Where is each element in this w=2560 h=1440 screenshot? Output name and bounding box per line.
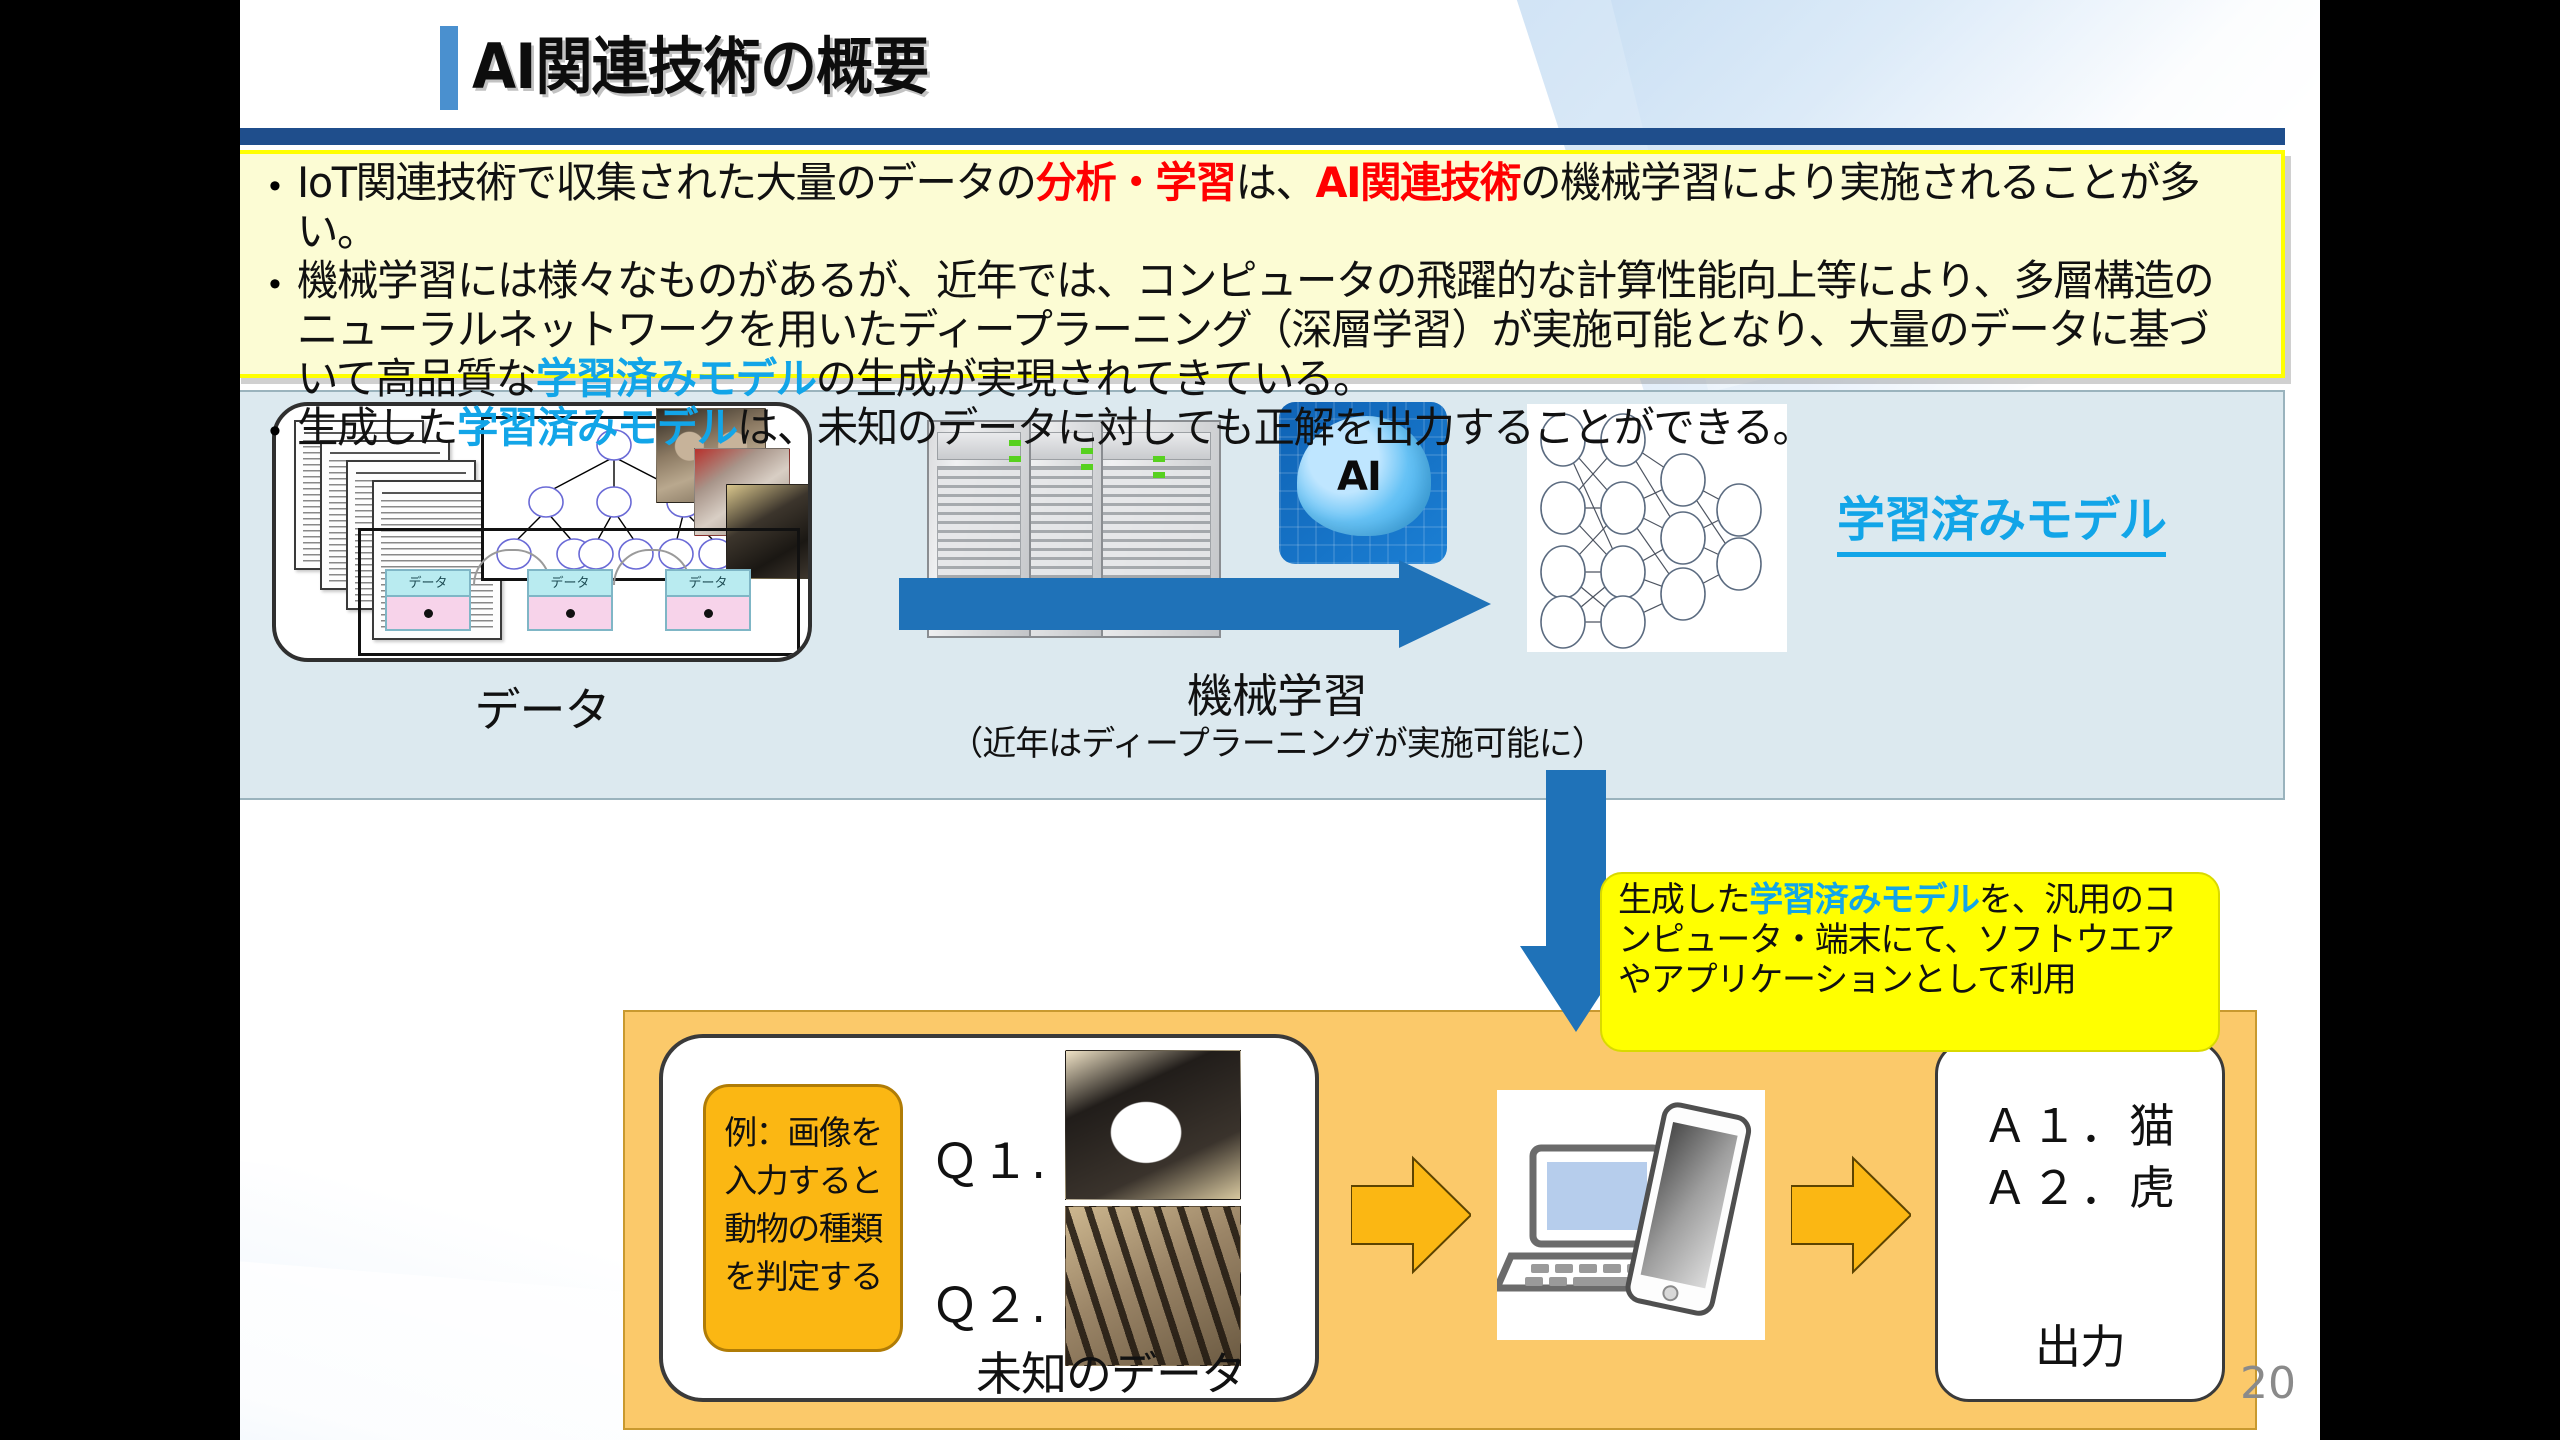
text-run-red: AI関連技術 xyxy=(1315,158,1520,207)
slide-header: AI関連技術の概要 xyxy=(240,14,2320,124)
text-run-plain: は、未知のデータに対しても正解を出力することができる。 xyxy=(737,403,1813,452)
output-answer-box: Ａ１．猫 Ａ２．虎 出力 xyxy=(1935,1040,2225,1402)
bullet-text-1: IoT関連技術で収集された大量のデータの分析・学習は、AI関連技術の機械学習によ… xyxy=(297,158,2239,256)
data-node: データ xyxy=(385,569,471,631)
bullet-marker: • xyxy=(253,158,297,212)
text-run-red: 分析・学習 xyxy=(1036,158,1236,207)
text-run-cyan: 学習済みモデル xyxy=(457,403,737,452)
text-run-plain: IoT関連技術で収集された大量のデータの xyxy=(297,158,1036,207)
bullet-text-3: 生成した学習済みモデルは、未知のデータに対しても正解を出力することができる。 xyxy=(297,403,1813,452)
page-number: 20 xyxy=(2240,1358,2296,1409)
question-2-label: Ｑ２. xyxy=(931,1266,1048,1336)
letterbox-right xyxy=(2320,0,2560,1440)
data-node-label: データ xyxy=(529,571,611,597)
bullet-item: • IoT関連技術で収集された大量のデータの分析・学習は、AI関連技術の機械学習… xyxy=(253,158,2269,256)
text-run-cyan: 学習済みモデル xyxy=(1749,880,1979,920)
tablet-icon xyxy=(1625,1102,1751,1316)
text-run-cyan: 学習済みモデル xyxy=(536,354,816,403)
bullet-marker: • xyxy=(253,256,297,310)
page-title: AI関連技術の概要 xyxy=(472,16,928,106)
linked-list-diagram: データ データ データ xyxy=(358,528,800,656)
data-caption: データ xyxy=(272,674,812,740)
ai-label: AI xyxy=(1337,454,1381,500)
usage-callout: 生成した学習済みモデルを、汎用のコンピュータ・端末にて、ソフトウエアやアプリケー… xyxy=(1600,872,2220,1052)
inference-panel: 例：画像を 入力すると 動物の種類 を判定する Ｑ１. Ｑ２. 未知のデータ xyxy=(623,1010,2257,1430)
bullet-marker: • xyxy=(253,403,297,457)
title-accent-bar xyxy=(440,26,458,110)
trained-model-label: 学習済みモデル xyxy=(1837,480,2166,557)
data-node-label: データ xyxy=(667,571,749,597)
unknown-data-caption: 未知のデータ xyxy=(901,1338,1321,1404)
example-note: 例：画像を 入力すると 動物の種類 を判定する xyxy=(703,1084,903,1352)
cat-photo-question xyxy=(1065,1050,1241,1200)
bullet-panel: • IoT関連技術で収集された大量のデータの分析・学習は、AI関連技術の機械学習… xyxy=(240,150,2285,378)
bullet-item: • 生成した学習済みモデルは、未知のデータに対しても正解を出力することができる。 xyxy=(253,403,2269,457)
output-arrow-icon xyxy=(1791,1152,1911,1278)
device-illustration xyxy=(1497,1090,1765,1340)
text-run-plain: の生成が実現されてきている。 xyxy=(816,354,1373,403)
answer-line-2: Ａ２．虎 xyxy=(1938,1157,2222,1219)
bullet-item: • 機械学習には様々なものがあるが、近年では、コンピュータの飛躍的な計算性能向上… xyxy=(253,256,2269,403)
question-1-label: Ｑ１. xyxy=(931,1122,1048,1192)
letterbox-left xyxy=(0,0,240,1440)
text-run-plain: は、 xyxy=(1235,158,1315,207)
data-node: データ xyxy=(527,569,613,631)
answer-line-1: Ａ１．猫 xyxy=(1938,1095,2222,1157)
text-run-plain: 生成した xyxy=(1618,880,1749,920)
input-arrow-icon xyxy=(1351,1152,1471,1278)
slide-stage: AI関連技術の概要 • IoT関連技術で収集された大量のデータの分析・学習は、A… xyxy=(0,0,2560,1440)
bullet-text-2: 機械学習には様々なものがあるが、近年では、コンピュータの飛躍的な計算性能向上等に… xyxy=(297,256,2239,403)
text-run-plain: 生成した xyxy=(297,403,457,452)
slide-canvas: AI関連技術の概要 • IoT関連技術で収集された大量のデータの分析・学習は、A… xyxy=(240,0,2320,1440)
unknown-data-group: 例：画像を 入力すると 動物の種類 を判定する Ｑ１. Ｑ２. 未知のデータ xyxy=(659,1034,1319,1402)
data-node-label: データ xyxy=(387,571,469,597)
title-divider-rule xyxy=(240,128,2285,145)
data-node: データ xyxy=(665,569,751,631)
training-arrow-icon xyxy=(899,560,1491,648)
output-caption: 出力 xyxy=(1938,1311,2222,1377)
machine-learning-subcaption: （近年はディープラーニングが実施可能に） xyxy=(857,716,1697,765)
